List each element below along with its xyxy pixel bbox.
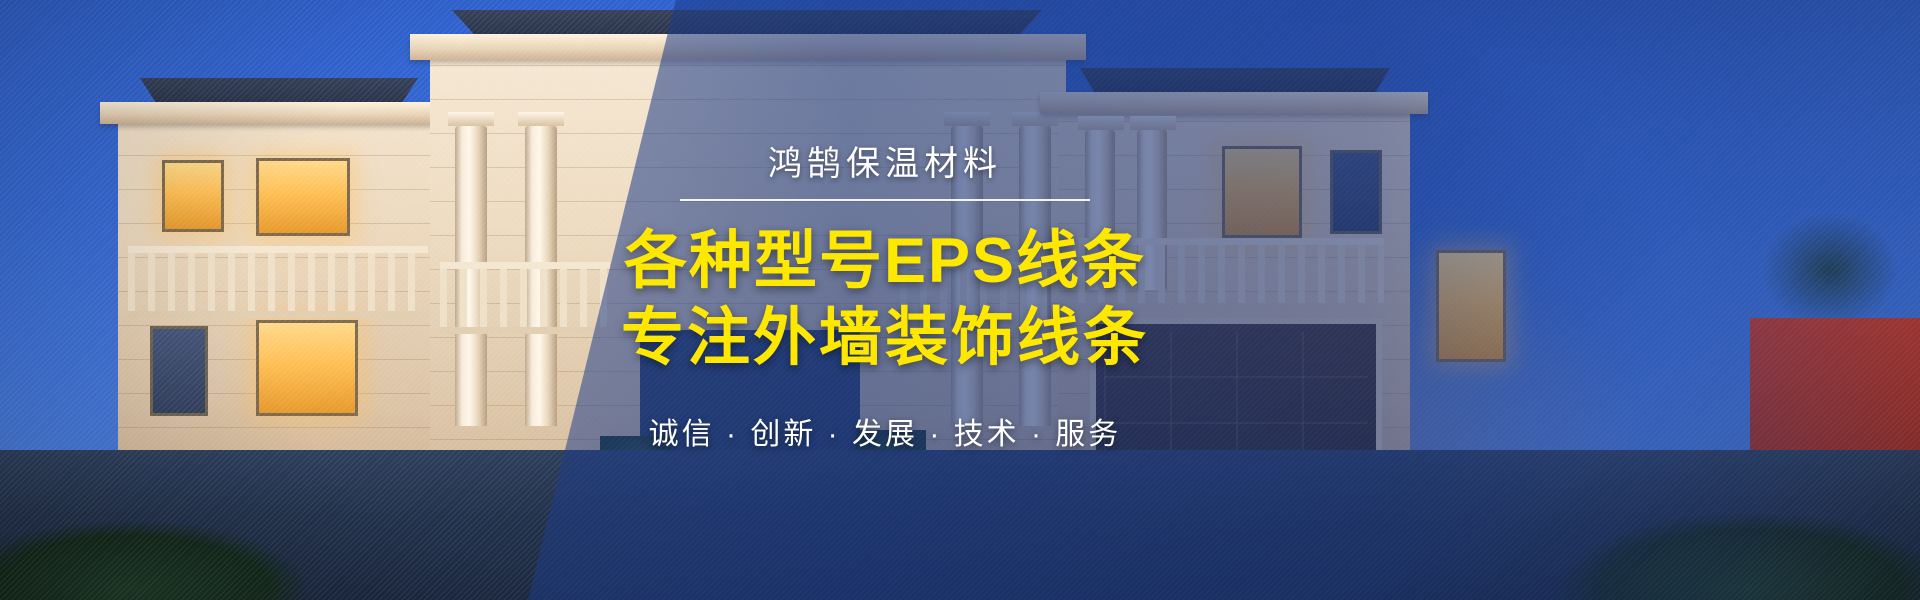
headline-line-1: 各种型号EPS线条 [624,223,1146,300]
banner-copy-inner: 鸿鹄保温材料 各种型号EPS线条 专注外墙装饰线条 诚信 · 创新 · 发展 ·… [621,147,1149,453]
tagline: 诚信 · 创新 · 发展 · 技术 · 服务 [649,409,1122,453]
banner-copy: 鸿鹄保温材料 各种型号EPS线条 专注外墙装饰线条 诚信 · 创新 · 发展 ·… [0,0,1920,600]
divider-rule [680,199,1090,201]
headline-line-2: 专注外墙装饰线条 [621,300,1149,377]
brand-name: 鸿鹄保温材料 [768,147,1002,181]
promo-banner: 鸿鹄保温材料 各种型号EPS线条 专注外墙装饰线条 诚信 · 创新 · 发展 ·… [0,0,1920,600]
